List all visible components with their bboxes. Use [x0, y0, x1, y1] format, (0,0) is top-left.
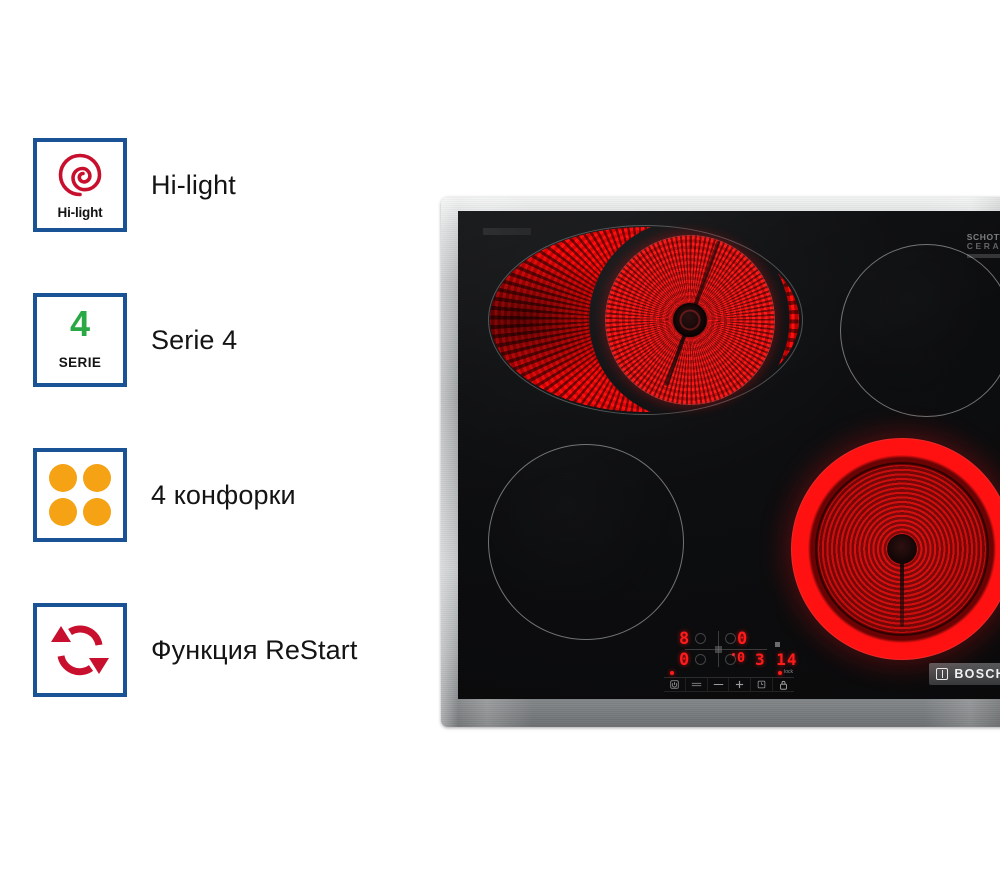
feature-label-hi-light: Hi-light [151, 170, 236, 201]
feature-label-serie-4: Serie 4 [151, 325, 237, 356]
display-center-marker [715, 646, 722, 653]
bosch-mark-icon [936, 668, 948, 680]
feature-icon-box-four-burners [33, 448, 127, 542]
zone-inner-glow [605, 235, 775, 405]
power-led-indicator [670, 671, 674, 675]
timer-display: 3 14 [755, 652, 798, 668]
serie-number: 4 [37, 306, 123, 342]
minus-button[interactable] [708, 678, 730, 691]
bosch-logo: BOSCH [929, 663, 1000, 685]
cooking-zone-top-left[interactable] [488, 225, 803, 415]
ceramic-glass-surface: SCHOTT CERAN [458, 211, 1000, 699]
four-burners-icon [49, 464, 111, 526]
zone-center-hub [673, 303, 707, 337]
burner-dot [83, 498, 111, 526]
display-zone-indicator-bottom-right [725, 654, 736, 665]
serie-caption: SERIE [37, 355, 123, 370]
feature-item-four-burners: 4 конфорки [33, 448, 296, 542]
feature-list: Hi-light Hi-light 4 SERIE Serie 4 4 конф… [0, 0, 440, 870]
touch-button-strip[interactable]: lock [664, 677, 794, 692]
cooktop-product-image: SCHOTT CERAN [441, 197, 1000, 727]
feature-item-restart: Функция ReStart [33, 603, 357, 697]
feature-item-serie-4: 4 SERIE Serie 4 [33, 293, 237, 387]
display-zone-indicator-top-left [695, 633, 706, 644]
feature-label-four-burners: 4 конфорки [151, 480, 296, 511]
child-lock-label: lock [784, 670, 793, 675]
display-zone-indicator-top-right [725, 633, 736, 644]
display-zone-indicator-bottom-left [695, 654, 706, 665]
feature-label-restart: Функция ReStart [151, 635, 357, 666]
display-value-bottom-left: 0 [679, 652, 689, 669]
plus-button[interactable] [729, 678, 751, 691]
restart-arrows-icon [48, 618, 112, 682]
timer-indicator-marker [775, 642, 780, 647]
feature-icon-box-hi-light: Hi-light [33, 138, 127, 232]
timer-button[interactable] [751, 678, 773, 691]
bosch-wordmark: BOSCH [954, 667, 1000, 681]
power-button[interactable] [664, 678, 686, 691]
child-lock-led-indicator [778, 671, 782, 675]
burner-dot [49, 498, 77, 526]
child-lock-button[interactable]: lock [773, 678, 794, 691]
burner-dot [83, 464, 111, 492]
cooking-zone-bottom-right[interactable] [791, 438, 1000, 660]
feature-icon-box-serie-4: 4 SERIE [33, 293, 127, 387]
display-value-top-left: 8 [679, 631, 689, 648]
cooking-zone-bottom-left[interactable] [488, 444, 684, 640]
display-value-bottom-right: 0 [737, 652, 745, 666]
schott-ceran-line2: CERAN [967, 242, 1000, 251]
hilight-icon-caption: Hi-light [37, 205, 123, 220]
hilight-spiral-icon [37, 146, 123, 204]
feature-icon-box-restart [33, 603, 127, 697]
zone-level-display: 8 0 0 0 3 14 [671, 629, 787, 671]
schott-ceran-logo: SCHOTT CERAN [967, 233, 1000, 258]
touch-control-panel[interactable]: 8 0 0 0 3 14 [654, 629, 804, 693]
burner-dot [49, 464, 77, 492]
heat-up-button[interactable] [686, 678, 708, 691]
feature-item-hi-light: Hi-light Hi-light [33, 138, 236, 232]
cooking-zone-top-right[interactable] [840, 244, 1000, 417]
zone-center-hub [887, 534, 917, 564]
display-value-top-right: 0 [737, 631, 747, 648]
